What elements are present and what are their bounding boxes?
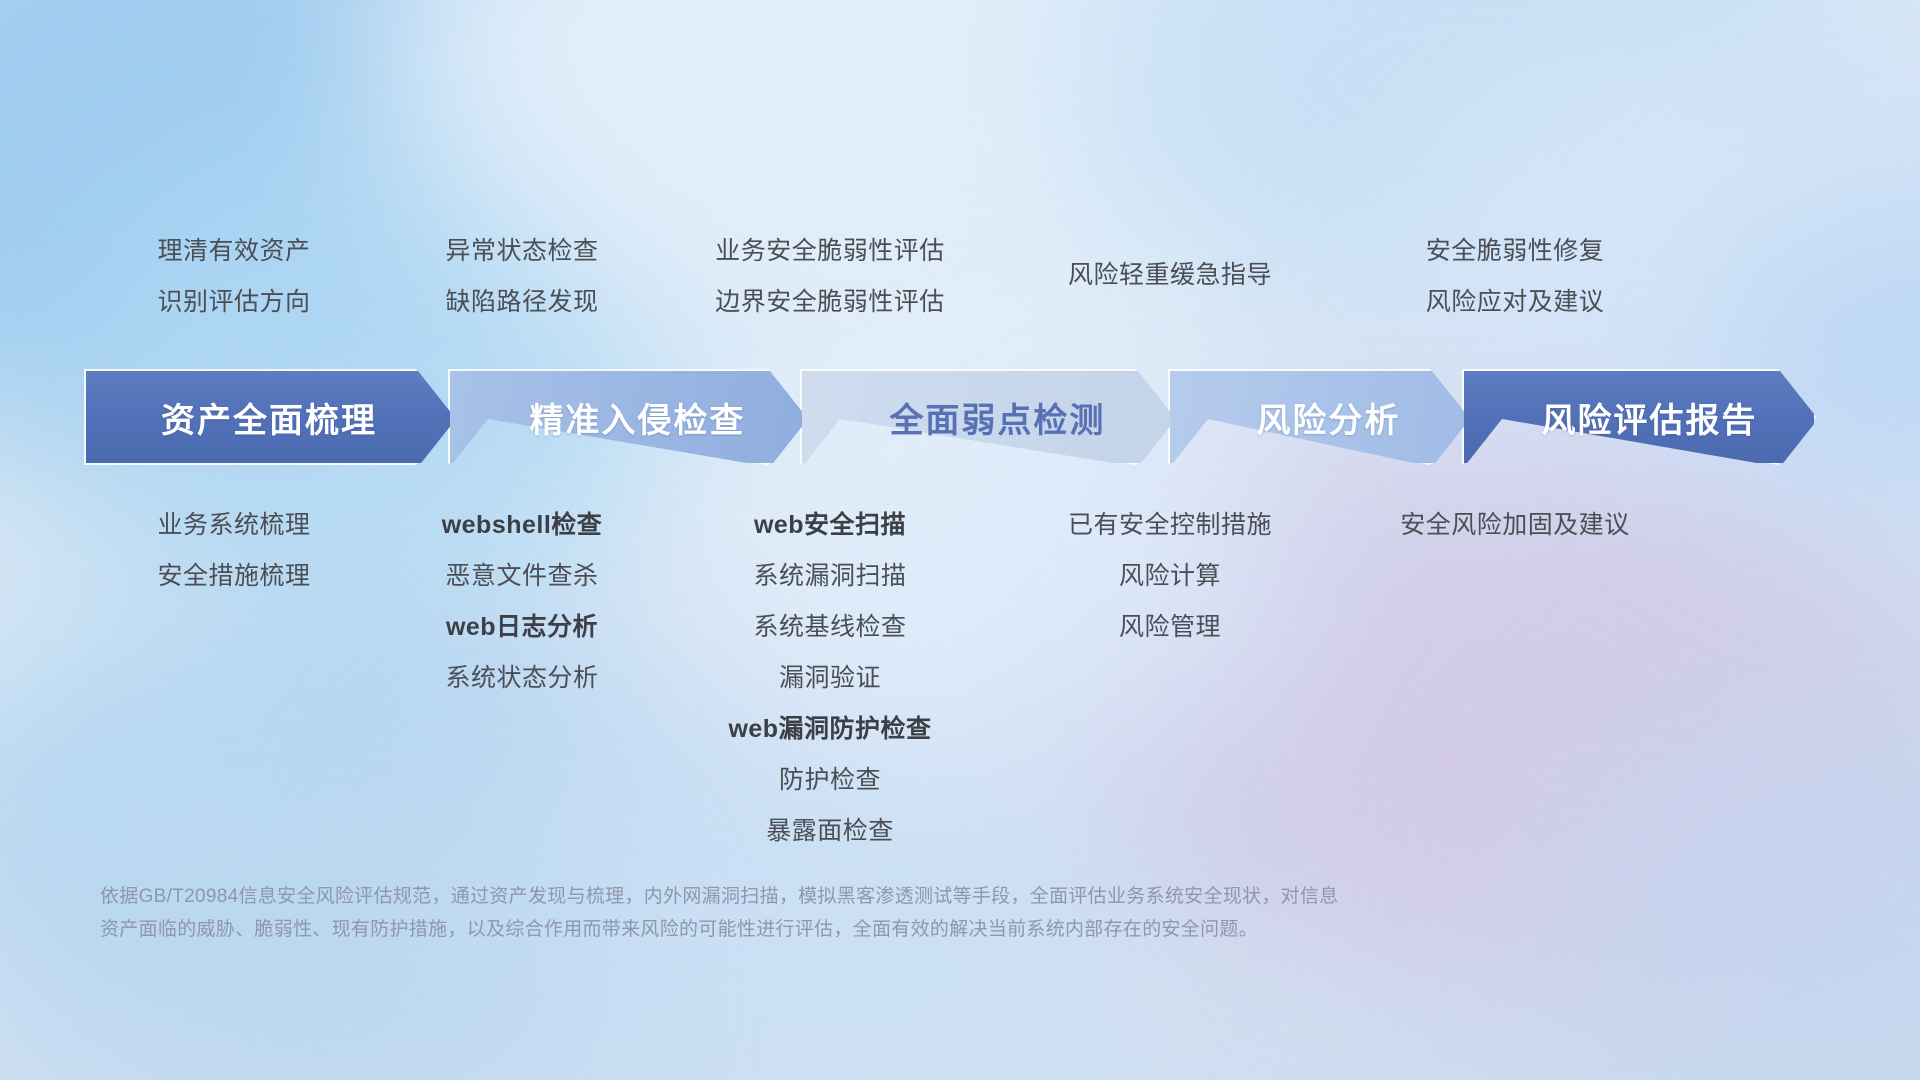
stage-bottom-item: web漏洞防护检查 xyxy=(660,704,1000,755)
stage-bottom-item: web安全扫描 xyxy=(660,500,1000,551)
stage-top-items-4: 风险轻重缓急指导 xyxy=(1000,250,1340,301)
stage-bottom-item: 系统基线检查 xyxy=(660,602,1000,653)
stage-bottom-item: 风险计算 xyxy=(1000,551,1340,602)
stage-bottom-item: web日志分析 xyxy=(372,602,672,653)
stage-top-item: 理清有效资产 xyxy=(84,226,384,277)
footer-line-2: 资产面临的威胁、脆弱性、现有防护措施，以及综合作用而带来风险的可能性进行评估，全… xyxy=(100,913,1620,946)
stage-bottom-item: 安全措施梳理 xyxy=(84,551,384,602)
stage-top-items-5: 安全脆弱性修复风险应对及建议 xyxy=(1330,226,1700,328)
stage-bottom-items-5: 安全风险加固及建议 xyxy=(1330,500,1700,551)
stage-bottom-item: 已有安全控制措施 xyxy=(1000,500,1340,551)
stage-bottom-item: 漏洞验证 xyxy=(660,653,1000,704)
stage-bottom-item: 恶意文件查杀 xyxy=(372,551,672,602)
stage-title: 风险分析 xyxy=(1256,393,1400,442)
stage-bottom-item: 系统漏洞扫描 xyxy=(660,551,1000,602)
stage-bottom-items-4: 已有安全控制措施风险计算风险管理 xyxy=(1000,500,1340,653)
stage-top-items-1: 理清有效资产识别评估方向 xyxy=(84,226,384,328)
stage-top-item: 安全脆弱性修复 xyxy=(1330,226,1700,277)
process-stage-2[interactable]: 精准入侵检查 xyxy=(448,369,806,465)
stage-title: 精准入侵检查 xyxy=(529,393,745,442)
stage-bottom-items-2: webshell检查恶意文件查杀web日志分析系统状态分析 xyxy=(372,500,672,704)
footer-line-1: 依据GB/T20984信息安全风险评估规范，通过资产发现与梳理，内外网漏洞扫描，… xyxy=(100,880,1620,913)
stage-bottom-items-3: web安全扫描系统漏洞扫描系统基线检查漏洞验证web漏洞防护检查防护检查暴露面检… xyxy=(660,500,1000,857)
stage-bottom-item: 安全风险加固及建议 xyxy=(1330,500,1700,551)
stage-title: 风险评估报告 xyxy=(1541,393,1757,442)
stage-top-item: 缺陷路径发现 xyxy=(372,277,672,328)
stage-top-items-2: 异常状态检查缺陷路径发现 xyxy=(372,226,672,328)
stage-top-item: 异常状态检查 xyxy=(372,226,672,277)
process-stage-3[interactable]: 全面弱点检测 xyxy=(800,369,1174,465)
process-stage-1[interactable]: 资产全面梳理 xyxy=(84,369,454,465)
process-infographic: 理清有效资产识别评估方向 异常状态检查缺陷路径发现 业务安全脆弱性评估边界安全脆… xyxy=(0,0,1920,1080)
stage-bottom-item: 系统状态分析 xyxy=(372,653,672,704)
stage-bottom-item: 防护检查 xyxy=(660,755,1000,806)
process-arrow-banner: 资产全面梳理精准入侵检查全面弱点检测风险分析风险评估报告 xyxy=(84,369,1840,465)
stage-bottom-item: 业务系统梳理 xyxy=(84,500,384,551)
stage-top-item: 边界安全脆弱性评估 xyxy=(660,277,1000,328)
process-stage-4[interactable]: 风险分析 xyxy=(1168,369,1468,465)
stage-top-item: 风险轻重缓急指导 xyxy=(1000,250,1340,301)
stage-top-item: 识别评估方向 xyxy=(84,277,384,328)
stage-top-item: 业务安全脆弱性评估 xyxy=(660,226,1000,277)
stage-title: 资产全面梳理 xyxy=(161,393,377,442)
stage-bottom-item: 暴露面检查 xyxy=(660,806,1000,857)
stage-title: 全面弱点检测 xyxy=(889,393,1105,442)
stage-bottom-item: webshell检查 xyxy=(372,500,672,551)
stage-bottom-items-1: 业务系统梳理安全措施梳理 xyxy=(84,500,384,602)
stage-top-items-3: 业务安全脆弱性评估边界安全脆弱性评估 xyxy=(660,226,1000,328)
stage-top-item: 风险应对及建议 xyxy=(1330,277,1700,328)
footer-description: 依据GB/T20984信息安全风险评估规范，通过资产发现与梳理，内外网漏洞扫描，… xyxy=(100,880,1620,946)
process-stage-5[interactable]: 风险评估报告 xyxy=(1462,369,1816,465)
stage-bottom-item: 风险管理 xyxy=(1000,602,1340,653)
